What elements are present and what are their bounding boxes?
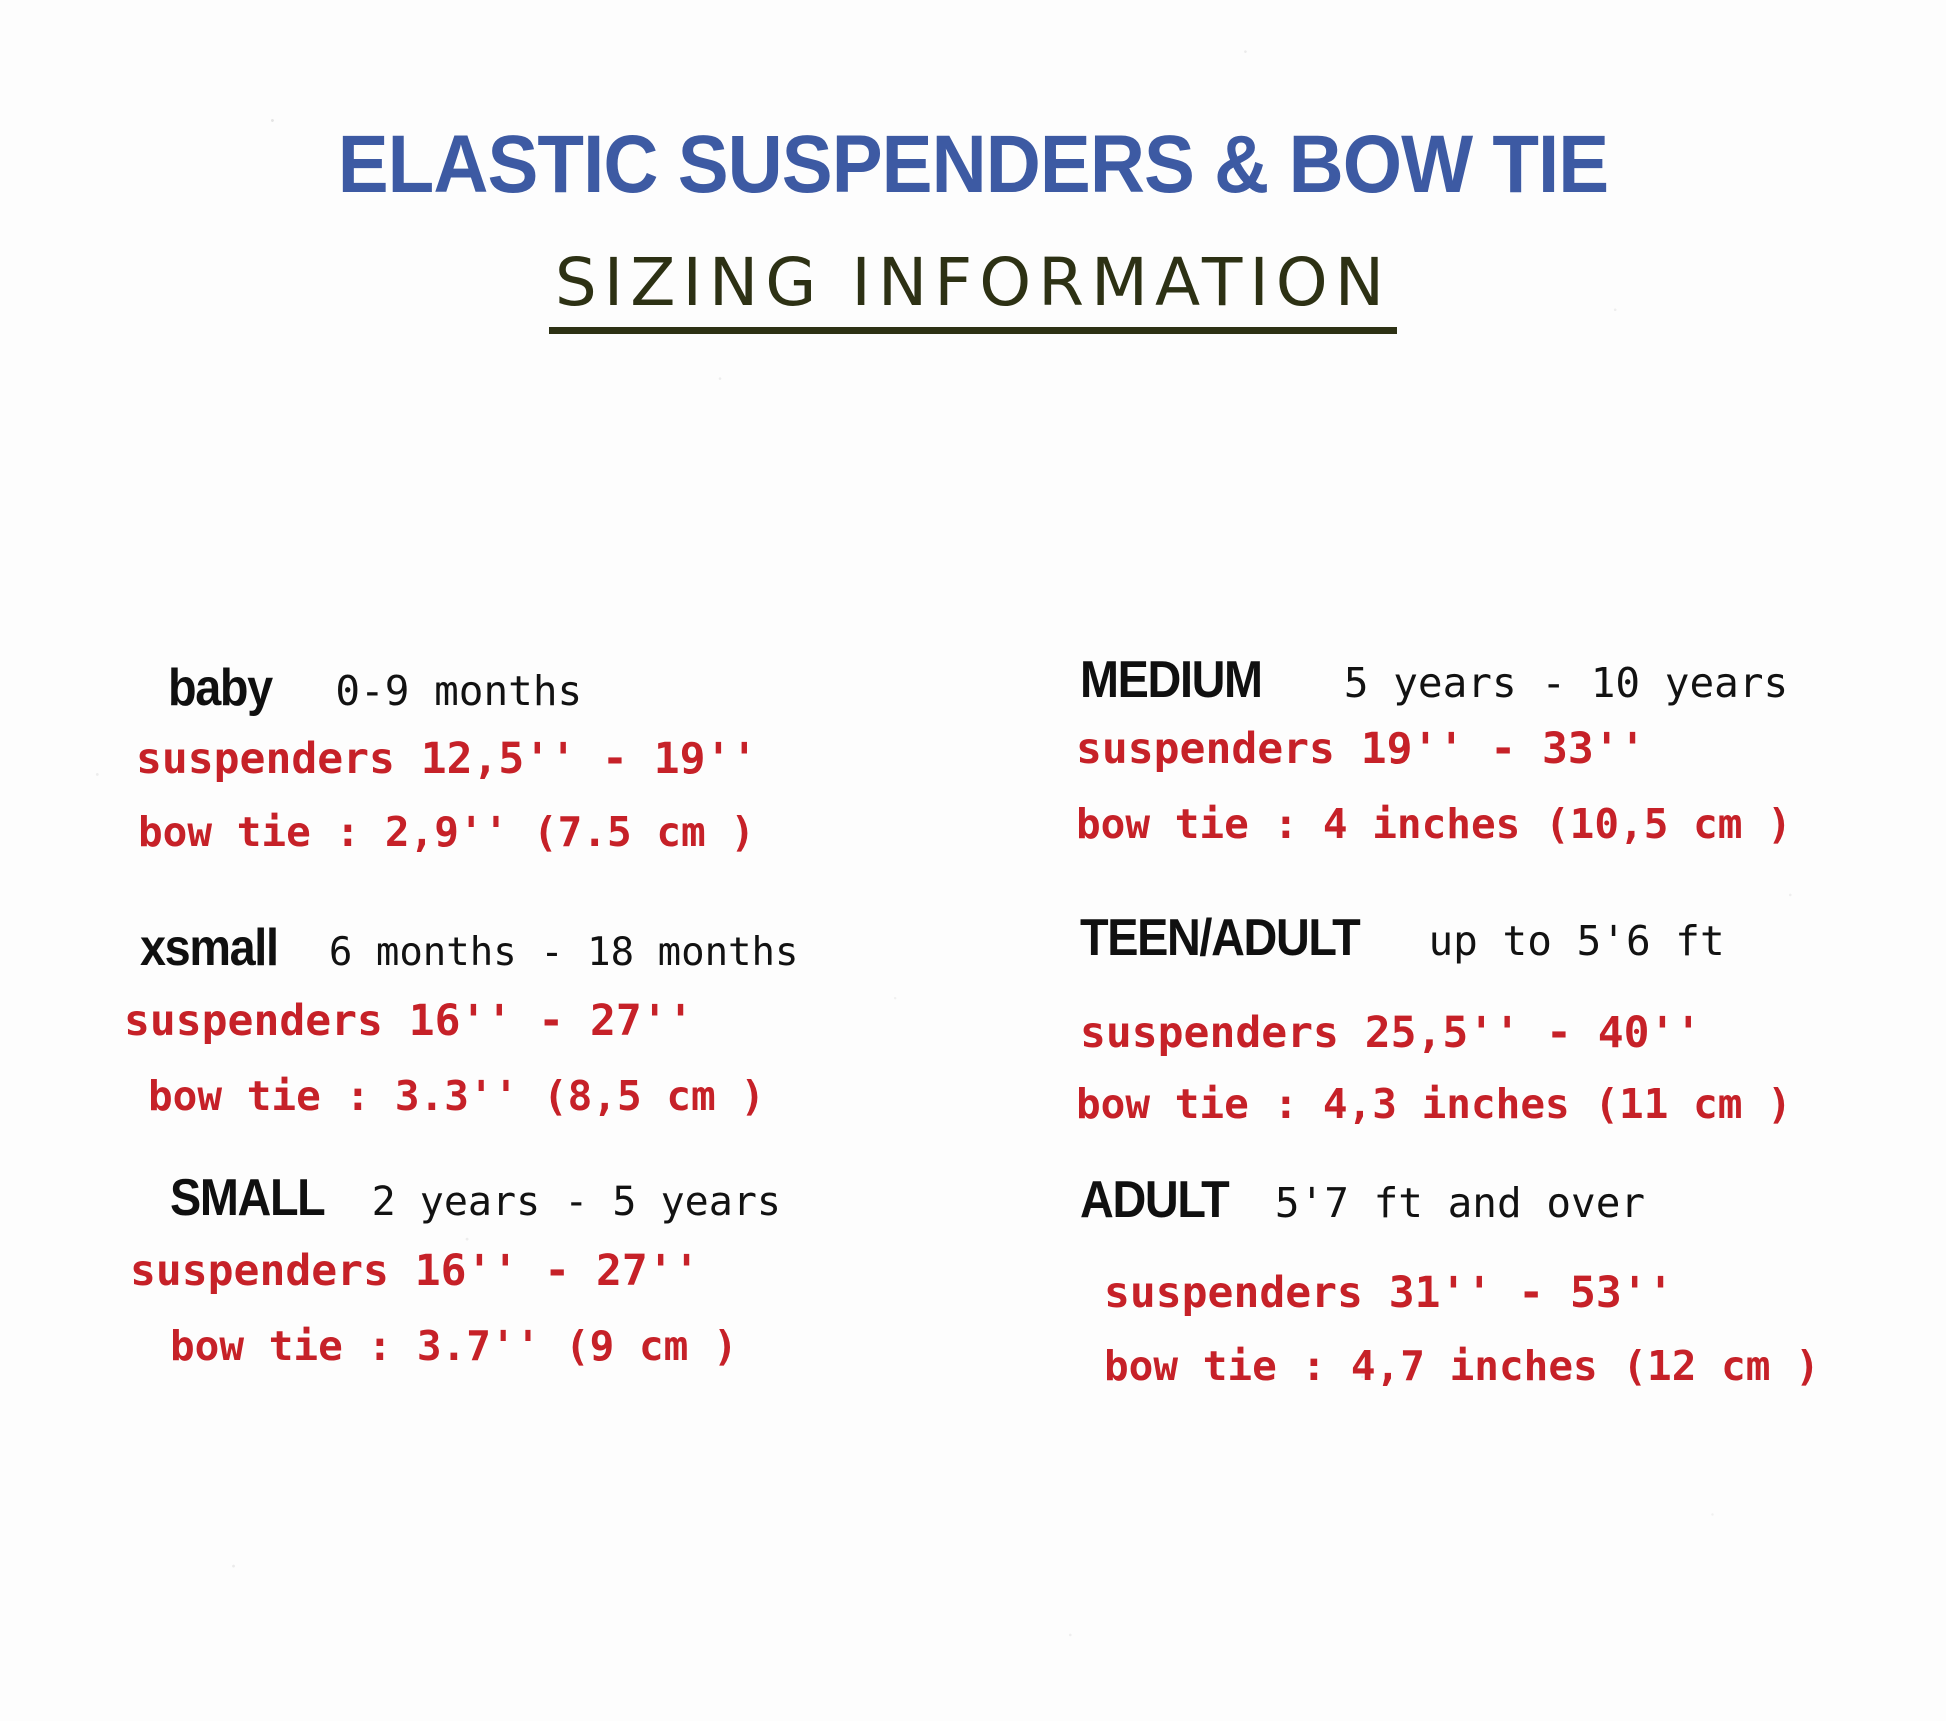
size-block-header: ADULT 5'7 ft and over xyxy=(1080,1170,1820,1230)
size-block-header: TEEN/ADULT up to 5'6 ft xyxy=(1080,908,1792,968)
size-age-range-teen-adult: up to 5'6 ft xyxy=(1428,917,1724,965)
suspenders-measurement-baby: suspenders 12,5'' - 19'' xyxy=(136,734,757,784)
bow-tie-measurement-baby: bow tie : 2,9'' (7.5 cm ) xyxy=(138,808,757,856)
size-block-adult: ADULT 5'7 ft and over suspenders 31'' - … xyxy=(1080,1170,1820,1390)
size-block-small: SMALL 2 years - 5 years suspenders 16'' … xyxy=(170,1168,781,1370)
bow-tie-measurement-adult: bow tie : 4,7 inches (12 cm ) xyxy=(1104,1342,1820,1390)
size-blocks-grid: baby 0-9 months suspenders 12,5'' - 19''… xyxy=(0,0,1946,1721)
bow-tie-measurement-teen-adult: bow tie : 4,3 inches (11 cm ) xyxy=(1076,1080,1792,1128)
size-block-teen-adult: TEEN/ADULT up to 5'6 ft suspenders 25,5'… xyxy=(1080,908,1792,1128)
size-age-range-adult: 5'7 ft and over xyxy=(1275,1179,1645,1227)
bow-tie-measurement-xsmall: bow tie : 3.3'' (8,5 cm ) xyxy=(148,1072,799,1120)
size-name-medium: MEDIUM xyxy=(1080,650,1262,710)
size-name-small: SMALL xyxy=(170,1168,324,1228)
size-block-header: baby 0-9 months xyxy=(168,658,757,718)
suspenders-measurement-teen-adult: suspenders 25,5'' - 40'' xyxy=(1080,1008,1792,1058)
size-age-range-small: 2 years - 5 years xyxy=(372,1179,781,1225)
suspenders-measurement-medium: suspenders 19'' - 33'' xyxy=(1076,724,1792,774)
size-block-baby: baby 0-9 months suspenders 12,5'' - 19''… xyxy=(168,658,757,856)
size-block-header: MEDIUM 5 years - 10 years xyxy=(1080,650,1792,710)
size-name-adult: ADULT xyxy=(1080,1170,1228,1230)
size-block-header: SMALL 2 years - 5 years xyxy=(170,1168,781,1228)
suspenders-measurement-xsmall: suspenders 16'' - 27'' xyxy=(124,996,799,1046)
size-age-range-medium: 5 years - 10 years xyxy=(1344,659,1788,707)
sizing-chart-page: ELASTIC SUSPENDERS & BOW TIE SIZING INFO… xyxy=(0,0,1946,1721)
size-name-teen-adult: TEEN/ADULT xyxy=(1080,908,1359,968)
size-age-range-baby: 0-9 months xyxy=(335,667,582,715)
bow-tie-measurement-medium: bow tie : 4 inches (10,5 cm ) xyxy=(1076,800,1792,848)
size-block-medium: MEDIUM 5 years - 10 years suspenders 19'… xyxy=(1080,650,1792,848)
suspenders-measurement-adult: suspenders 31'' - 53'' xyxy=(1104,1268,1820,1318)
size-name-baby: baby xyxy=(168,658,272,718)
size-name-xsmall: xsmall xyxy=(140,918,278,978)
size-block-xsmall: xsmall 6 months - 18 months suspenders 1… xyxy=(140,918,799,1120)
size-age-range-xsmall: 6 months - 18 months xyxy=(329,930,799,975)
bow-tie-measurement-small: bow tie : 3.7'' (9 cm ) xyxy=(170,1322,781,1370)
suspenders-measurement-small: suspenders 16'' - 27'' xyxy=(130,1246,781,1296)
size-block-header: xsmall 6 months - 18 months xyxy=(140,918,799,978)
